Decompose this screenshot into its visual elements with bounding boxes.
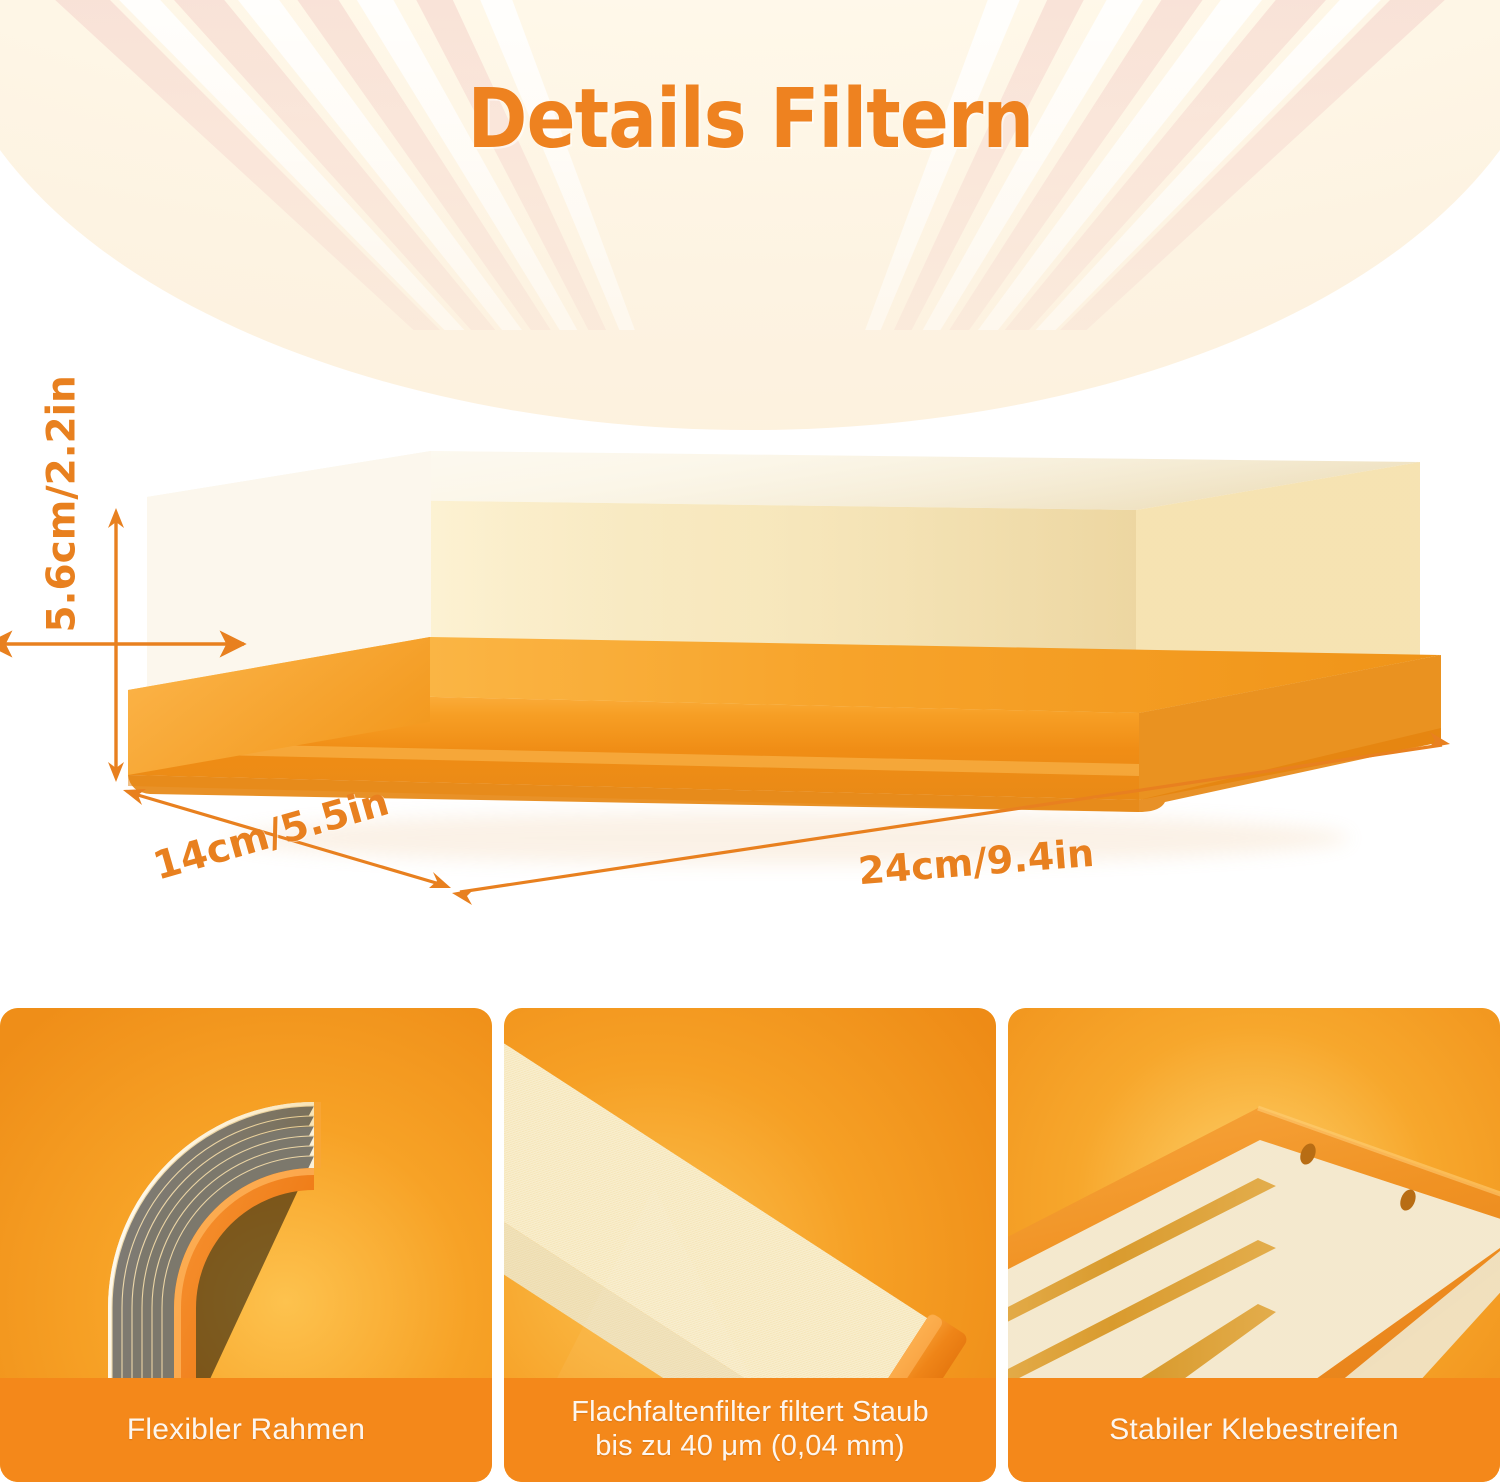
- panel-caption-adhesive-strip: Stabiler Klebestreifen: [1008, 1378, 1500, 1482]
- panel-caption-text: Flachfaltenfilter filtert Staub bis zu 4…: [571, 1396, 929, 1463]
- hero-section: Details Filtern: [0, 0, 1500, 1000]
- dimension-arrow-height: [0, 508, 244, 782]
- feature-panel-flexible-frame[interactable]: Flexibler Rahmen: [0, 1008, 492, 1482]
- panel-caption-line-1: Flachfaltenfilter filtert Staub: [571, 1396, 929, 1430]
- panel-caption-dust-filtration: Flachfaltenfilter filtert Staub bis zu 4…: [504, 1378, 996, 1482]
- feature-panel-dust-filtration[interactable]: Flachfaltenfilter filtert Staub bis zu 4…: [504, 1008, 996, 1482]
- panel-caption-flexible-frame: Flexibler Rahmen: [0, 1378, 492, 1482]
- panel-caption-text: Flexibler Rahmen: [127, 1413, 365, 1448]
- feature-panel-adhesive-strip[interactable]: Stabiler Klebestreifen: [1008, 1008, 1500, 1482]
- panel-caption-text: Stabiler Klebestreifen: [1109, 1413, 1399, 1448]
- panel-caption-line-2: bis zu 40 μm (0,04 mm): [571, 1430, 929, 1464]
- feature-panels: Flexibler Rahmen: [0, 1008, 1500, 1482]
- dimension-label-height: 5.6cm/2.2in: [40, 453, 85, 633]
